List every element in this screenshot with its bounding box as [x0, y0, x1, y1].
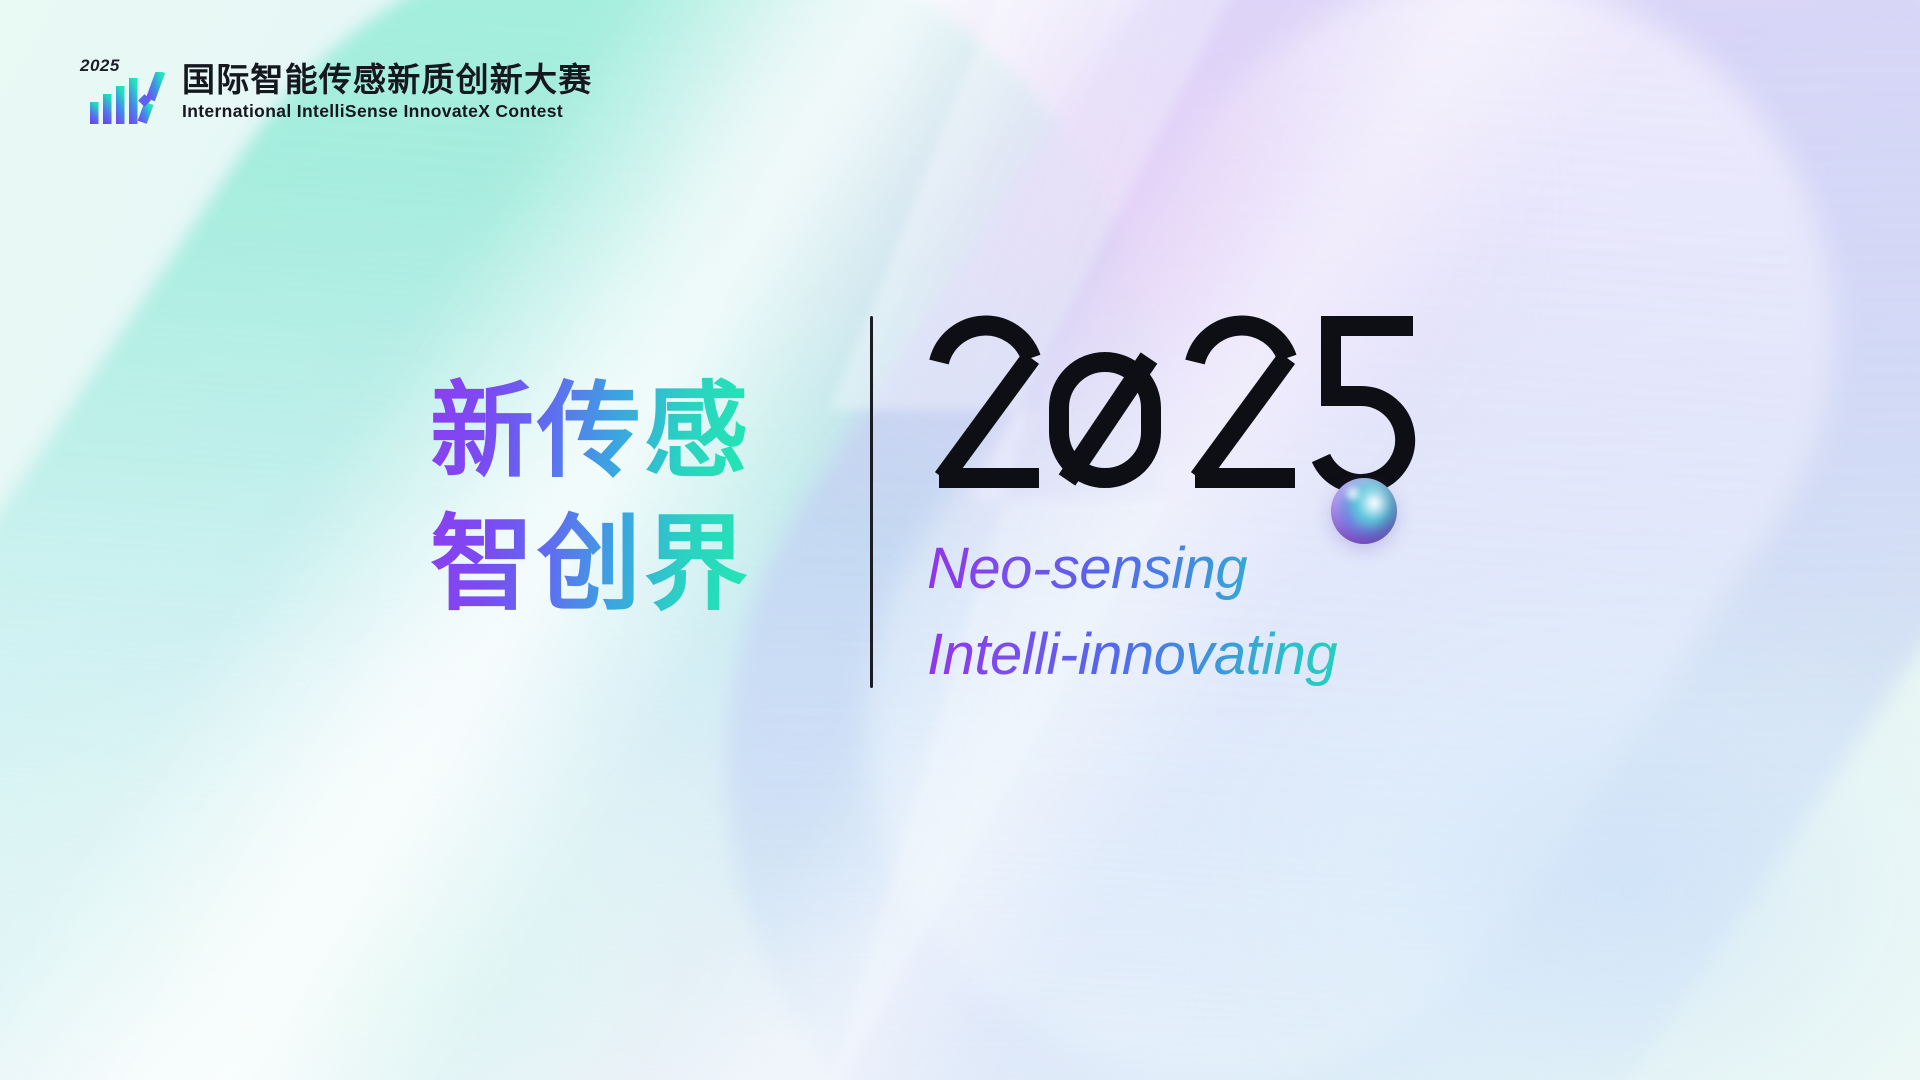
hero-composition: 新传感 智创界 [0, 0, 1920, 1080]
gradient-sphere-accent-icon [1331, 478, 1397, 544]
year-numeral-container [927, 300, 1427, 500]
tagline-intelli-innovating: Intelli-innovating [927, 612, 1427, 698]
right-content-block: Neo-sensing Intelli-innovating [873, 300, 1427, 698]
ascending-bars-chart-icon [90, 72, 166, 124]
tagline-block: Neo-sensing Intelli-innovating [927, 526, 1427, 698]
logo-mark-container: 2025 [84, 52, 168, 124]
contest-logo-lockup[interactable]: 2025 [84, 52, 592, 124]
chinese-slogan-block: 新传感 智创界 [430, 300, 870, 698]
slogan-line-1: 新传感 [430, 369, 751, 496]
year-2025-numeral [927, 300, 1427, 500]
logo-title-english: International IntelliSense InnovateX Con… [182, 101, 592, 122]
logo-text-block: 国际智能传感新质创新大赛 International IntelliSense … [182, 62, 592, 124]
poster-canvas: 2025 [0, 0, 1920, 1080]
slogan-line-2: 智创界 [430, 502, 751, 629]
logo-title-chinese: 国际智能传感新质创新大赛 [182, 62, 592, 99]
hero-inner-row: 新传感 智创界 [430, 300, 1427, 698]
